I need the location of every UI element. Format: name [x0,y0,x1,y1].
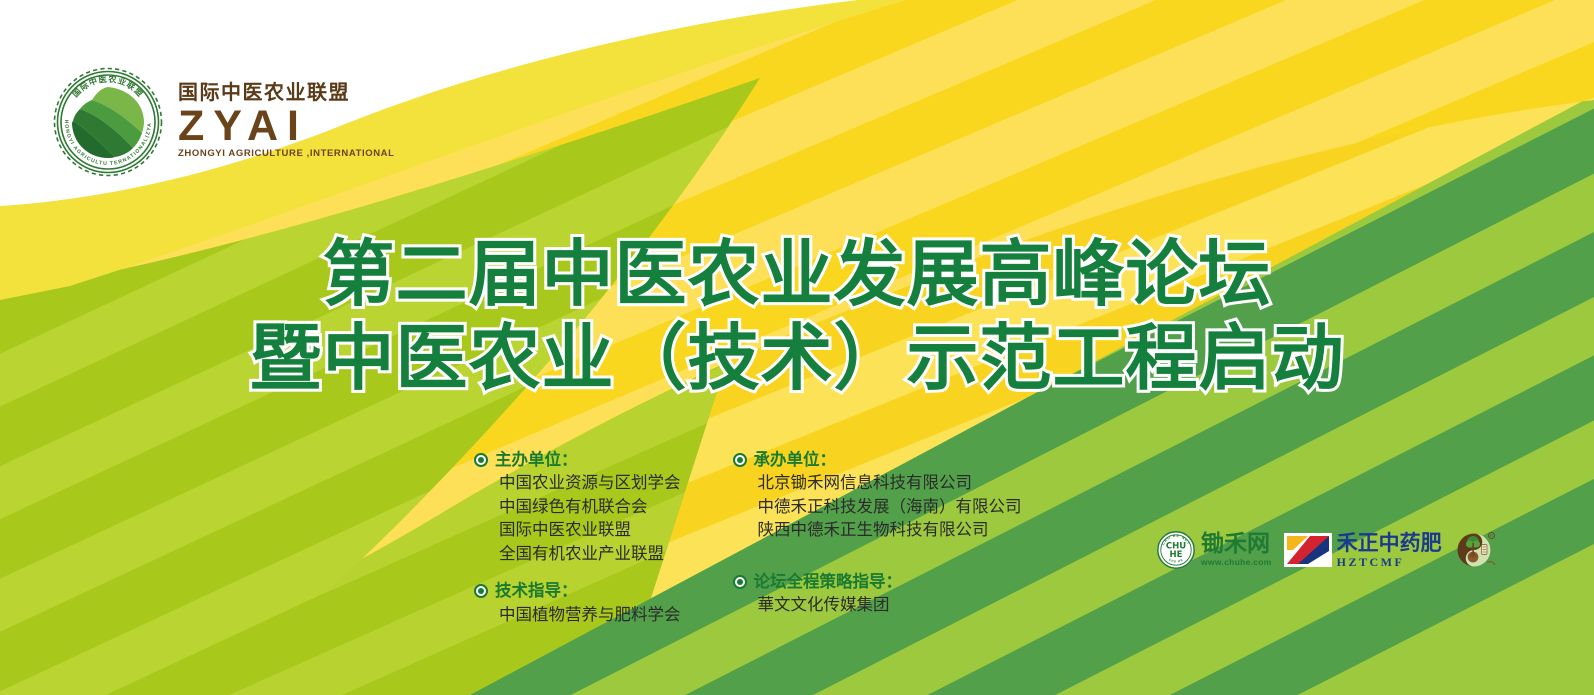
bullet-icon [733,575,747,589]
zyai-acronym: ZYAI [178,105,395,147]
group-item: 華文文化传媒集团 [758,593,903,616]
spacer [474,565,681,579]
hezheng-z-mark-icon [1284,533,1332,567]
bullet-icon [474,584,488,598]
group-item: 北京锄禾网信息科技有限公司 [758,471,1022,494]
group-heading: 主办单位： [495,448,681,471]
organizer-group-coorganizer: 承办单位： 北京锄禾网信息科技有限公司 中德禾正科技发展（海南）有限公司 陕西中… [733,448,1022,542]
title-line-1: 第二届中医农业发展高峰论坛 [0,238,1594,310]
sponsor-hezheng: 禾正中药肥 HZTCMF [1284,533,1442,568]
poster-canvas: 国际中医农业联盟 ZHONGYI AGRICULTURE ,INTERNATIO… [0,0,1594,695]
sponsor-chuhe: CHU HE NET CHU HE CHU HE 锄禾网 www.chuhe.c… [1156,530,1272,570]
group-item: 中国农业资源与区划学会 [499,471,681,494]
sponsor-chuhe-name: 锄禾网 [1201,533,1272,556]
organizer-group-host: 主办单位： 中国农业资源与区划学会 中国绿色有机联合会 国际中医农业联盟 全国有… [474,448,681,565]
sponsor-tree-root-yinyang: R [1454,529,1500,571]
zyai-logo-lockup: 国际中医农业联盟 ZHONGYI AGRICULTURE ,INTERNATIO… [52,66,395,178]
sponsor-hezheng-acronym: HZTCMF [1337,556,1442,568]
sponsor-chuhe-url: www.chuhe.com [1201,558,1272,567]
zyai-logo-text: 国际中医农业联盟 ZYAI ZHONGYI AGRICULTURE ,INTER… [178,82,395,162]
zyai-circular-emblem-icon: 国际中医农业联盟 ZHONGYI AGRICULTURE ,INTERNATIO… [52,66,164,178]
organizer-group-strategy-guidance: 论坛全程策略指导： 華文文化传媒集团 [733,570,1022,617]
group-heading: 论坛全程策略指导： [754,570,903,593]
svg-text:R: R [1490,534,1493,538]
group-item: 全国有机农业产业联盟 [499,542,681,565]
spacer [733,556,1022,570]
group-item: 国际中医农业联盟 [499,518,681,541]
organizer-right-column: 承办单位： 北京锄禾网信息科技有限公司 中德禾正科技发展（海南）有限公司 陕西中… [733,448,1022,626]
organizer-group-tech-guidance: 技术指导： 中国植物营养与肥料学会 [474,579,681,626]
organizer-info: 主办单位： 中国农业资源与区划学会 中国绿色有机联合会 国际中医农业联盟 全国有… [474,448,1022,626]
group-item: 中国绿色有机联合会 [499,495,681,518]
group-heading: 承办单位： [754,448,1022,471]
spacer [733,542,1022,556]
title-line-2: 暨中医农业（技术）示范工程启动 [0,322,1594,394]
sponsor-logo-row: CHU HE NET CHU HE CHU HE 锄禾网 www.chuhe.c… [1156,529,1500,571]
organizer-left-column: 主办单位： 中国农业资源与区划学会 中国绿色有机联合会 国际中医农业联盟 全国有… [474,448,681,626]
poster-title: 第二届中医农业发展高峰论坛 暨中医农业（技术）示范工程启动 [0,238,1594,394]
group-heading: 技术指导： [495,579,681,602]
sponsor-hezheng-name: 禾正中药肥 [1337,533,1442,554]
zyai-org-name-cn: 国际中医农业联盟 [178,82,395,104]
group-item: 陕西中德禾正生物科技有限公司 [758,518,1022,541]
group-item: 中德禾正科技发展（海南）有限公司 [758,495,1022,518]
zyai-org-name-en: ZHONGYI AGRICULTURE ,INTERNATIONAL [178,149,395,159]
bullet-icon [733,453,747,467]
bullet-icon [474,453,488,467]
tree-root-yinyang-icon: R [1454,529,1500,571]
chuhe-seal-icon: CHU HE NET CHU HE CHU HE [1156,530,1196,570]
group-item: 中国植物营养与肥料学会 [499,603,681,626]
svg-text:HE: HE [1170,550,1183,560]
